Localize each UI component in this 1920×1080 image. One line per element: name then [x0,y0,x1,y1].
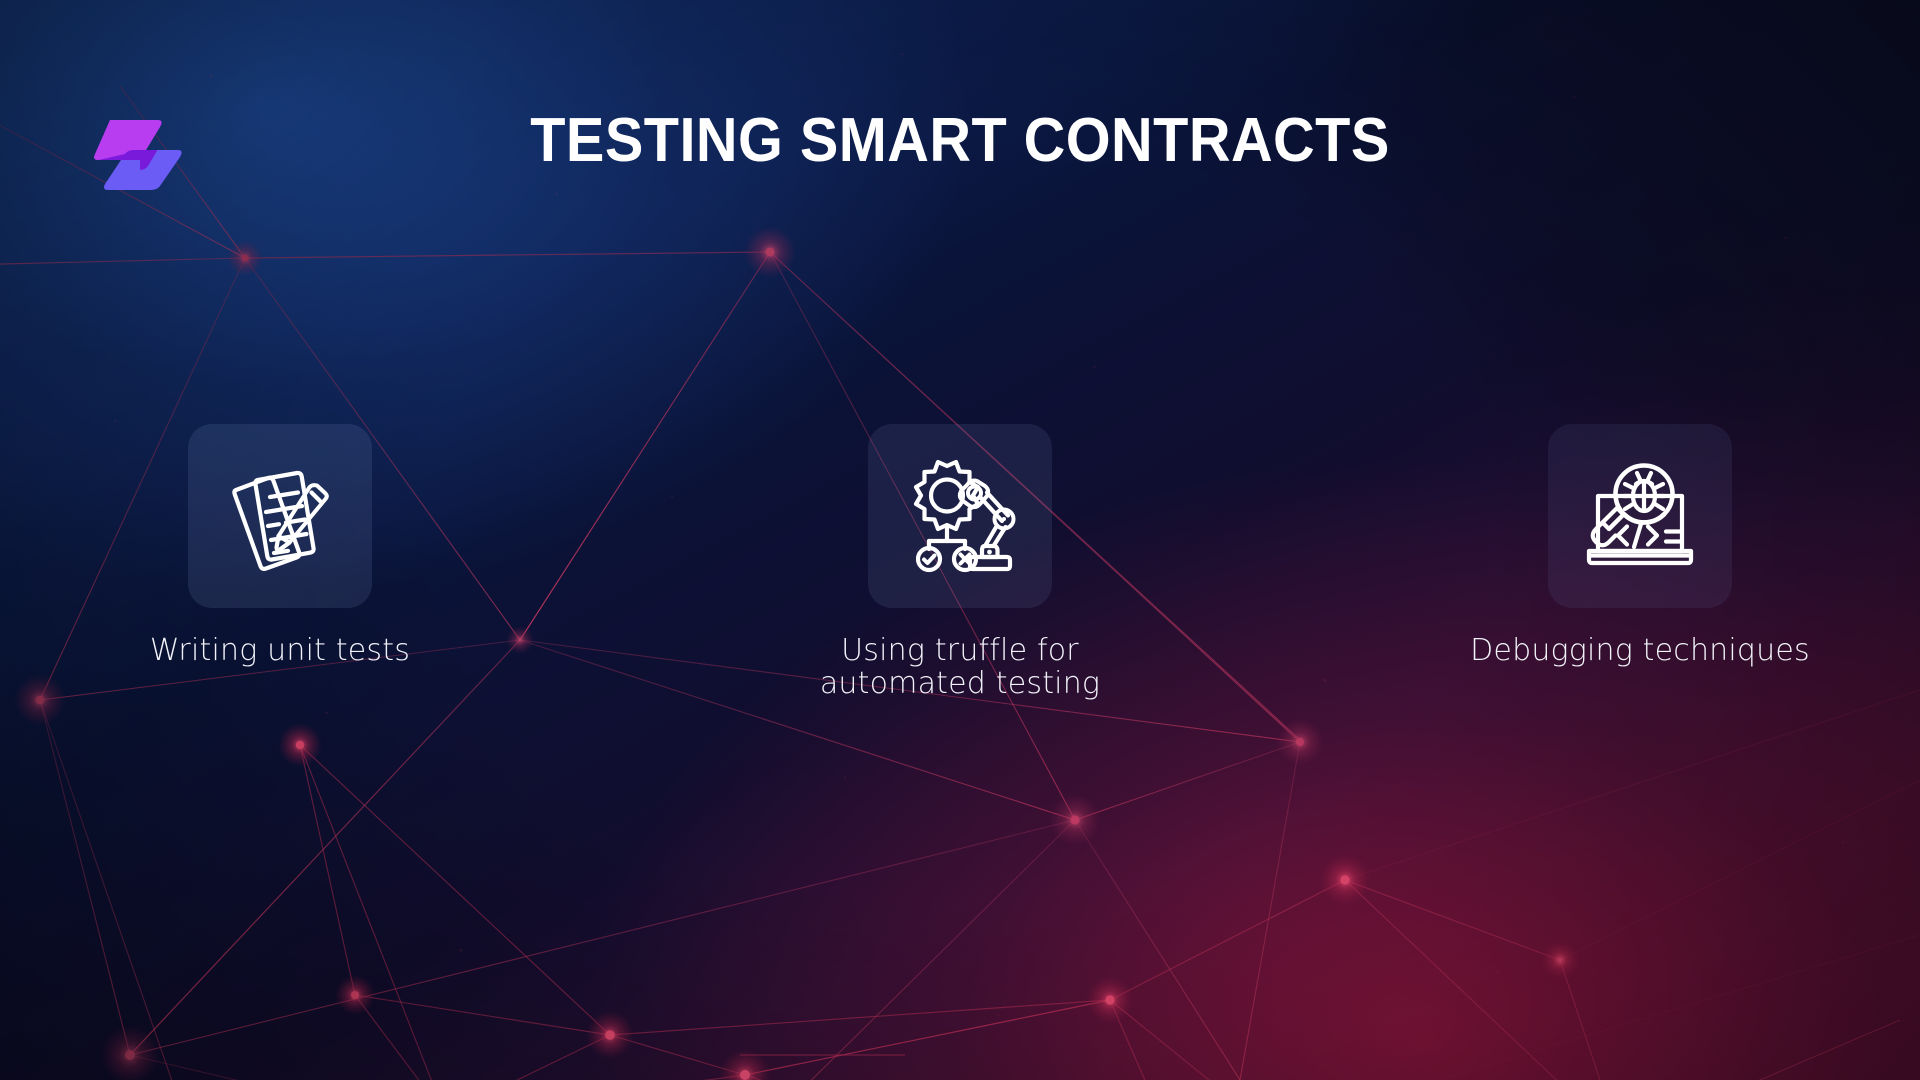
feature-icon-tile [1548,424,1732,608]
documents-pencil-icon [220,456,340,576]
feature-using-truffle[interactable]: Using truffle for automated testing [750,424,1170,700]
presentation-slide: TESTING SMART CONTRACTS [0,0,1920,1080]
laptop-bug-magnifier-icon [1578,454,1702,578]
feature-row: Writing unit tests [0,424,1920,700]
feature-icon-tile [868,424,1052,608]
feature-icon-tile [188,424,372,608]
page-title: TESTING SMART CONTRACTS [67,108,1853,173]
feature-label: Debugging techniques [1470,634,1810,667]
feature-label: Using truffle for automated testing [820,634,1100,700]
feature-debugging-techniques[interactable]: Debugging techniques [1430,424,1850,667]
feature-writing-unit-tests[interactable]: Writing unit tests [70,424,490,667]
feature-label: Writing unit tests [150,634,410,667]
gear-robot-arm-icon [897,453,1023,579]
